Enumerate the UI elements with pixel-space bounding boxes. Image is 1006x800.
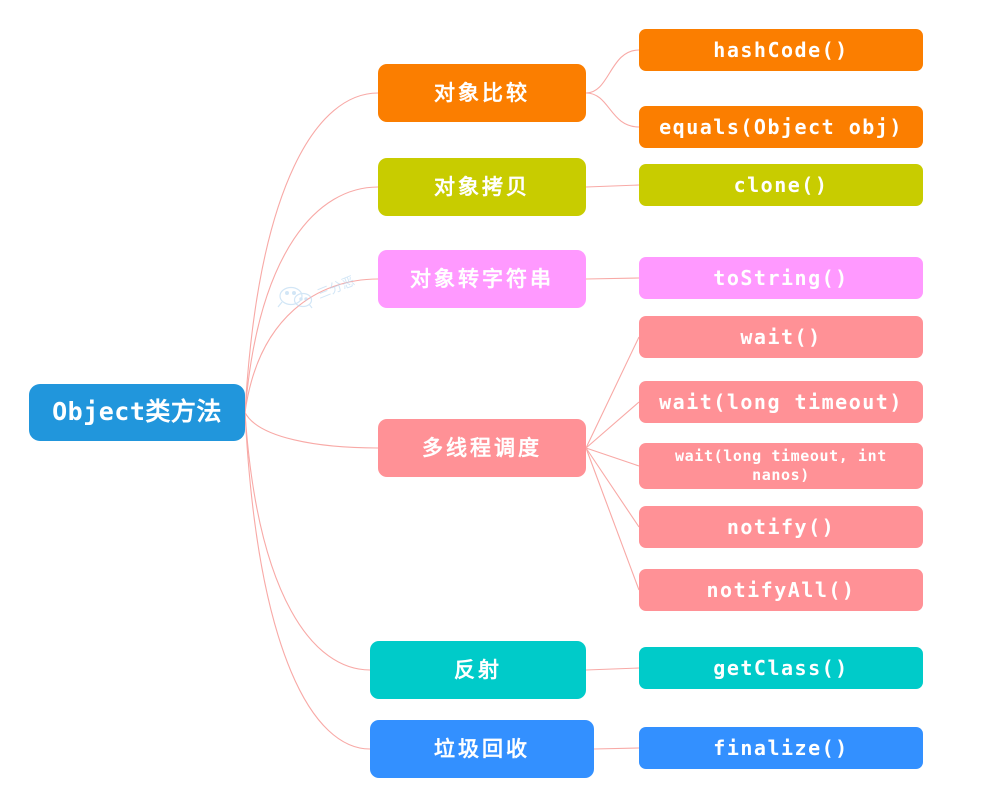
root-node[interactable]: Object类方法 <box>29 384 245 441</box>
leaf-node-3-4-label: notifyAll() <box>707 579 856 602</box>
leaf-node-1-0[interactable]: clone() <box>639 164 923 206</box>
leaf-node-0-1-label: equals(Object obj) <box>659 116 903 139</box>
connector-line <box>586 402 639 448</box>
leaf-node-3-3[interactable]: notify() <box>639 506 923 548</box>
branch-node-3-label: 多线程调度 <box>422 436 542 460</box>
connector-line <box>586 337 639 448</box>
connector-line <box>586 185 639 187</box>
leaf-node-2-0[interactable]: toString() <box>639 257 923 299</box>
branch-node-5[interactable]: 垃圾回收 <box>370 720 594 778</box>
connector-line <box>586 668 639 670</box>
branch-node-3[interactable]: 多线程调度 <box>378 419 586 477</box>
leaf-node-3-2-label: wait(long timeout, int nanos) <box>645 447 917 485</box>
leaf-node-3-1-label: wait(long timeout) <box>659 391 903 414</box>
branch-node-2[interactable]: 对象转字符串 <box>378 250 586 308</box>
watermark-text: 三分恶 <box>315 274 357 303</box>
connector-line <box>586 93 639 127</box>
branch-node-0[interactable]: 对象比较 <box>378 64 586 122</box>
branch-node-4-label: 反射 <box>454 658 502 682</box>
branch-node-1-label: 对象拷贝 <box>434 175 530 199</box>
connector-line <box>586 448 639 466</box>
connector-line <box>586 278 639 279</box>
leaf-node-5-0[interactable]: finalize() <box>639 727 923 769</box>
leaf-node-0-0[interactable]: hashCode() <box>639 29 923 71</box>
leaf-node-5-0-label: finalize() <box>713 737 848 760</box>
connector-line <box>586 50 639 93</box>
connector-line <box>586 448 639 527</box>
leaf-node-0-0-label: hashCode() <box>713 39 848 62</box>
branch-node-0-label: 对象比较 <box>434 81 530 105</box>
mindmap-canvas: 三分恶 Object类方法 对象比较hashCode()equals(Objec… <box>0 0 1006 800</box>
connector-line <box>245 413 370 750</box>
leaf-node-0-1[interactable]: equals(Object obj) <box>639 106 923 148</box>
leaf-node-3-3-label: notify() <box>727 516 835 539</box>
leaf-node-4-0-label: getClass() <box>713 657 848 680</box>
connector-line <box>594 748 639 749</box>
branch-node-2-label: 对象转字符串 <box>410 267 554 291</box>
connector-line <box>245 279 378 413</box>
leaf-node-3-0[interactable]: wait() <box>639 316 923 358</box>
leaf-node-3-2[interactable]: wait(long timeout, int nanos) <box>639 443 923 489</box>
branch-node-5-label: 垃圾回收 <box>434 737 530 761</box>
connector-line <box>586 448 639 590</box>
connector-line <box>245 93 378 413</box>
leaf-node-2-0-label: toString() <box>713 267 848 290</box>
connector-line <box>245 413 378 449</box>
wechat-watermark-icon: 三分恶 <box>276 262 362 310</box>
leaf-node-3-0-label: wait() <box>740 326 821 349</box>
connector-line <box>245 413 370 671</box>
leaf-node-3-4[interactable]: notifyAll() <box>639 569 923 611</box>
connector-line <box>245 187 378 413</box>
branch-node-4[interactable]: 反射 <box>370 641 586 699</box>
leaf-node-4-0[interactable]: getClass() <box>639 647 923 689</box>
leaf-node-1-0-label: clone() <box>734 174 829 197</box>
root-node-label: Object类方法 <box>52 398 222 427</box>
branch-node-1[interactable]: 对象拷贝 <box>378 158 586 216</box>
leaf-node-3-1[interactable]: wait(long timeout) <box>639 381 923 423</box>
